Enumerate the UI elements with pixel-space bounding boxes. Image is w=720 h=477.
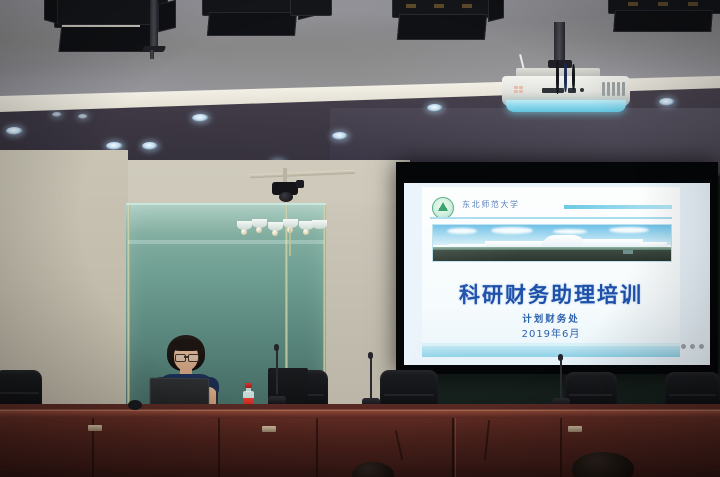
microphone-head	[558, 354, 563, 361]
ppt-control-dot[interactable]	[690, 344, 695, 349]
desk-panel-seam	[316, 418, 318, 477]
downlight	[192, 114, 209, 122]
slide-divider	[430, 217, 672, 219]
desk-nameplate	[262, 426, 276, 432]
slide-title: 科研财务助理培训	[422, 279, 680, 309]
glass-mullion	[127, 205, 130, 420]
presentation-controls[interactable]	[681, 344, 704, 349]
pole-plate	[142, 46, 166, 52]
glass-ornament-stem	[289, 228, 291, 256]
desk-nameplate	[568, 426, 582, 432]
stage-light	[388, 0, 510, 42]
cable	[452, 418, 454, 477]
camera-side-module	[296, 180, 304, 188]
desk-panel-seam	[455, 418, 456, 477]
glass-ornament-bead	[272, 230, 278, 236]
downlight	[332, 132, 348, 140]
desk-panel-seam	[560, 418, 562, 477]
projection-screen: 东北师范大学 科研财务助理培训 计划财务处 2019年6月	[404, 183, 710, 365]
slide-banner-photo	[432, 224, 672, 262]
light-pole-mount	[150, 0, 158, 50]
presentation-slide: 东北师范大学 科研财务助理培训 计划财务处 2019年6月	[422, 187, 680, 357]
downlight	[78, 114, 88, 119]
ppt-control-dot[interactable]	[681, 344, 686, 349]
lecture-hall-photo: 东北师范大学 科研财务助理培训 计划财务处 2019年6月	[0, 0, 720, 477]
stage-light	[608, 0, 720, 30]
stage-light	[290, 0, 332, 22]
glass-ornament	[312, 220, 327, 229]
slide-subtitle-date: 2019年6月	[422, 325, 680, 340]
downlight	[106, 142, 123, 150]
camera-lens-icon	[279, 192, 293, 202]
glass-reflection	[128, 240, 324, 244]
eyeglasses-icon	[188, 354, 199, 362]
microphone-stem	[276, 348, 278, 394]
microphone-head	[274, 344, 279, 351]
glass-ornament-bead	[303, 229, 309, 235]
downlight	[6, 127, 23, 135]
slide-footer-band	[422, 346, 680, 357]
ppt-control-dot[interactable]	[699, 344, 704, 349]
desk-nameplate	[88, 425, 102, 431]
slide-subtitle-department: 计划财务处	[422, 311, 680, 325]
university-logo-icon	[432, 197, 454, 219]
downlight	[659, 98, 675, 106]
downlight	[142, 142, 158, 150]
microphone-head	[368, 352, 373, 359]
slide-header-rule	[564, 205, 672, 209]
desk-panel-seam	[218, 418, 220, 477]
microphone-stem	[370, 356, 372, 398]
downlight	[427, 104, 443, 112]
desk-object	[128, 400, 142, 410]
glass-ornament-bead	[241, 229, 247, 235]
projector	[502, 62, 630, 112]
microphone-stem	[560, 358, 562, 398]
downlight	[52, 112, 62, 117]
glass-ornament-bead	[256, 227, 262, 233]
slide-university-name: 东北师范大学	[462, 199, 520, 210]
